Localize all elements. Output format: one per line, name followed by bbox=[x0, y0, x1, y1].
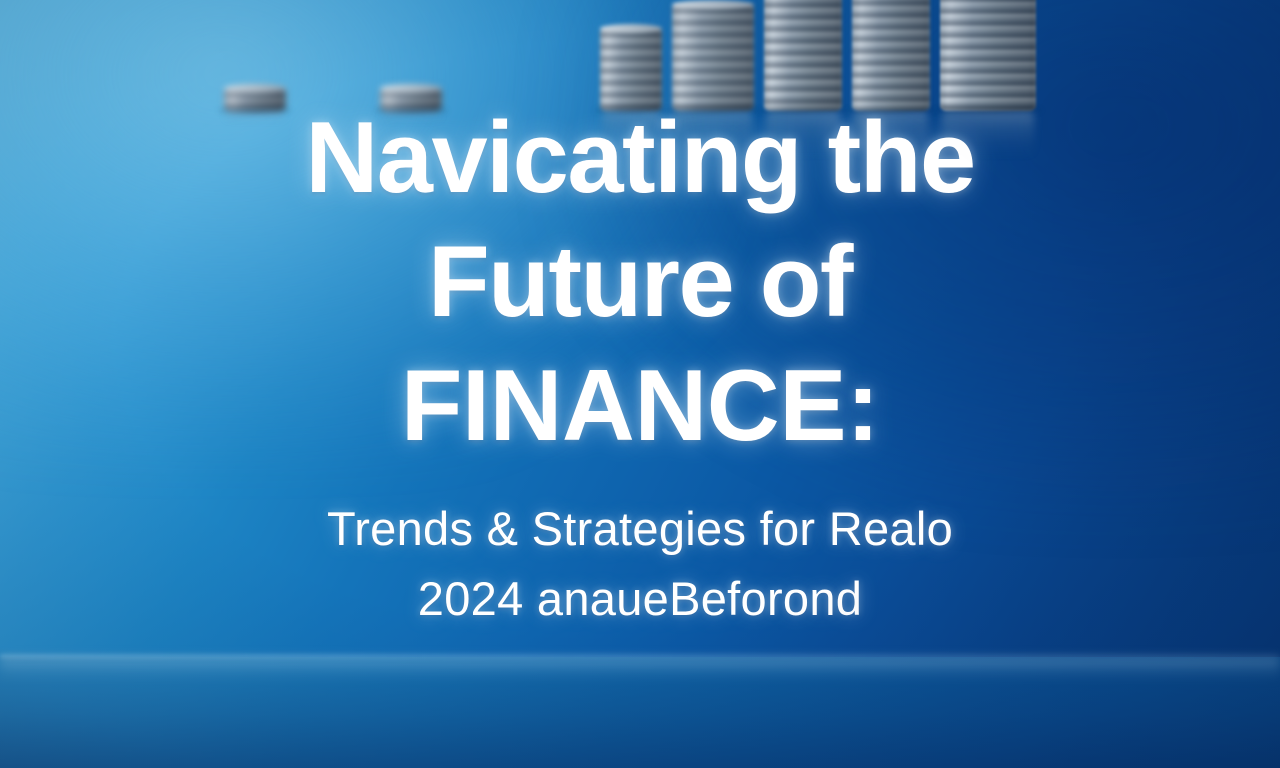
coin-stack-3 bbox=[764, 0, 842, 111]
title-line-3: FINANCE: bbox=[0, 356, 1280, 457]
finance-title-poster: Navicating the Future of FINANCE: Trends… bbox=[0, 0, 1280, 768]
coin-stack-5-tallest bbox=[940, 0, 1036, 111]
coin-stack-1 bbox=[600, 27, 662, 111]
subtitle-line-2: 2024 anaueBeforond bbox=[0, 575, 1280, 622]
subtitle-line-1: Trends & Strategies for Realo bbox=[0, 505, 1280, 552]
coin-stack-4 bbox=[852, 0, 930, 111]
coin-stack-2 bbox=[672, 3, 754, 111]
title-line-1: Navicating the bbox=[0, 108, 1280, 209]
title-line-2: Future of bbox=[0, 232, 1280, 333]
